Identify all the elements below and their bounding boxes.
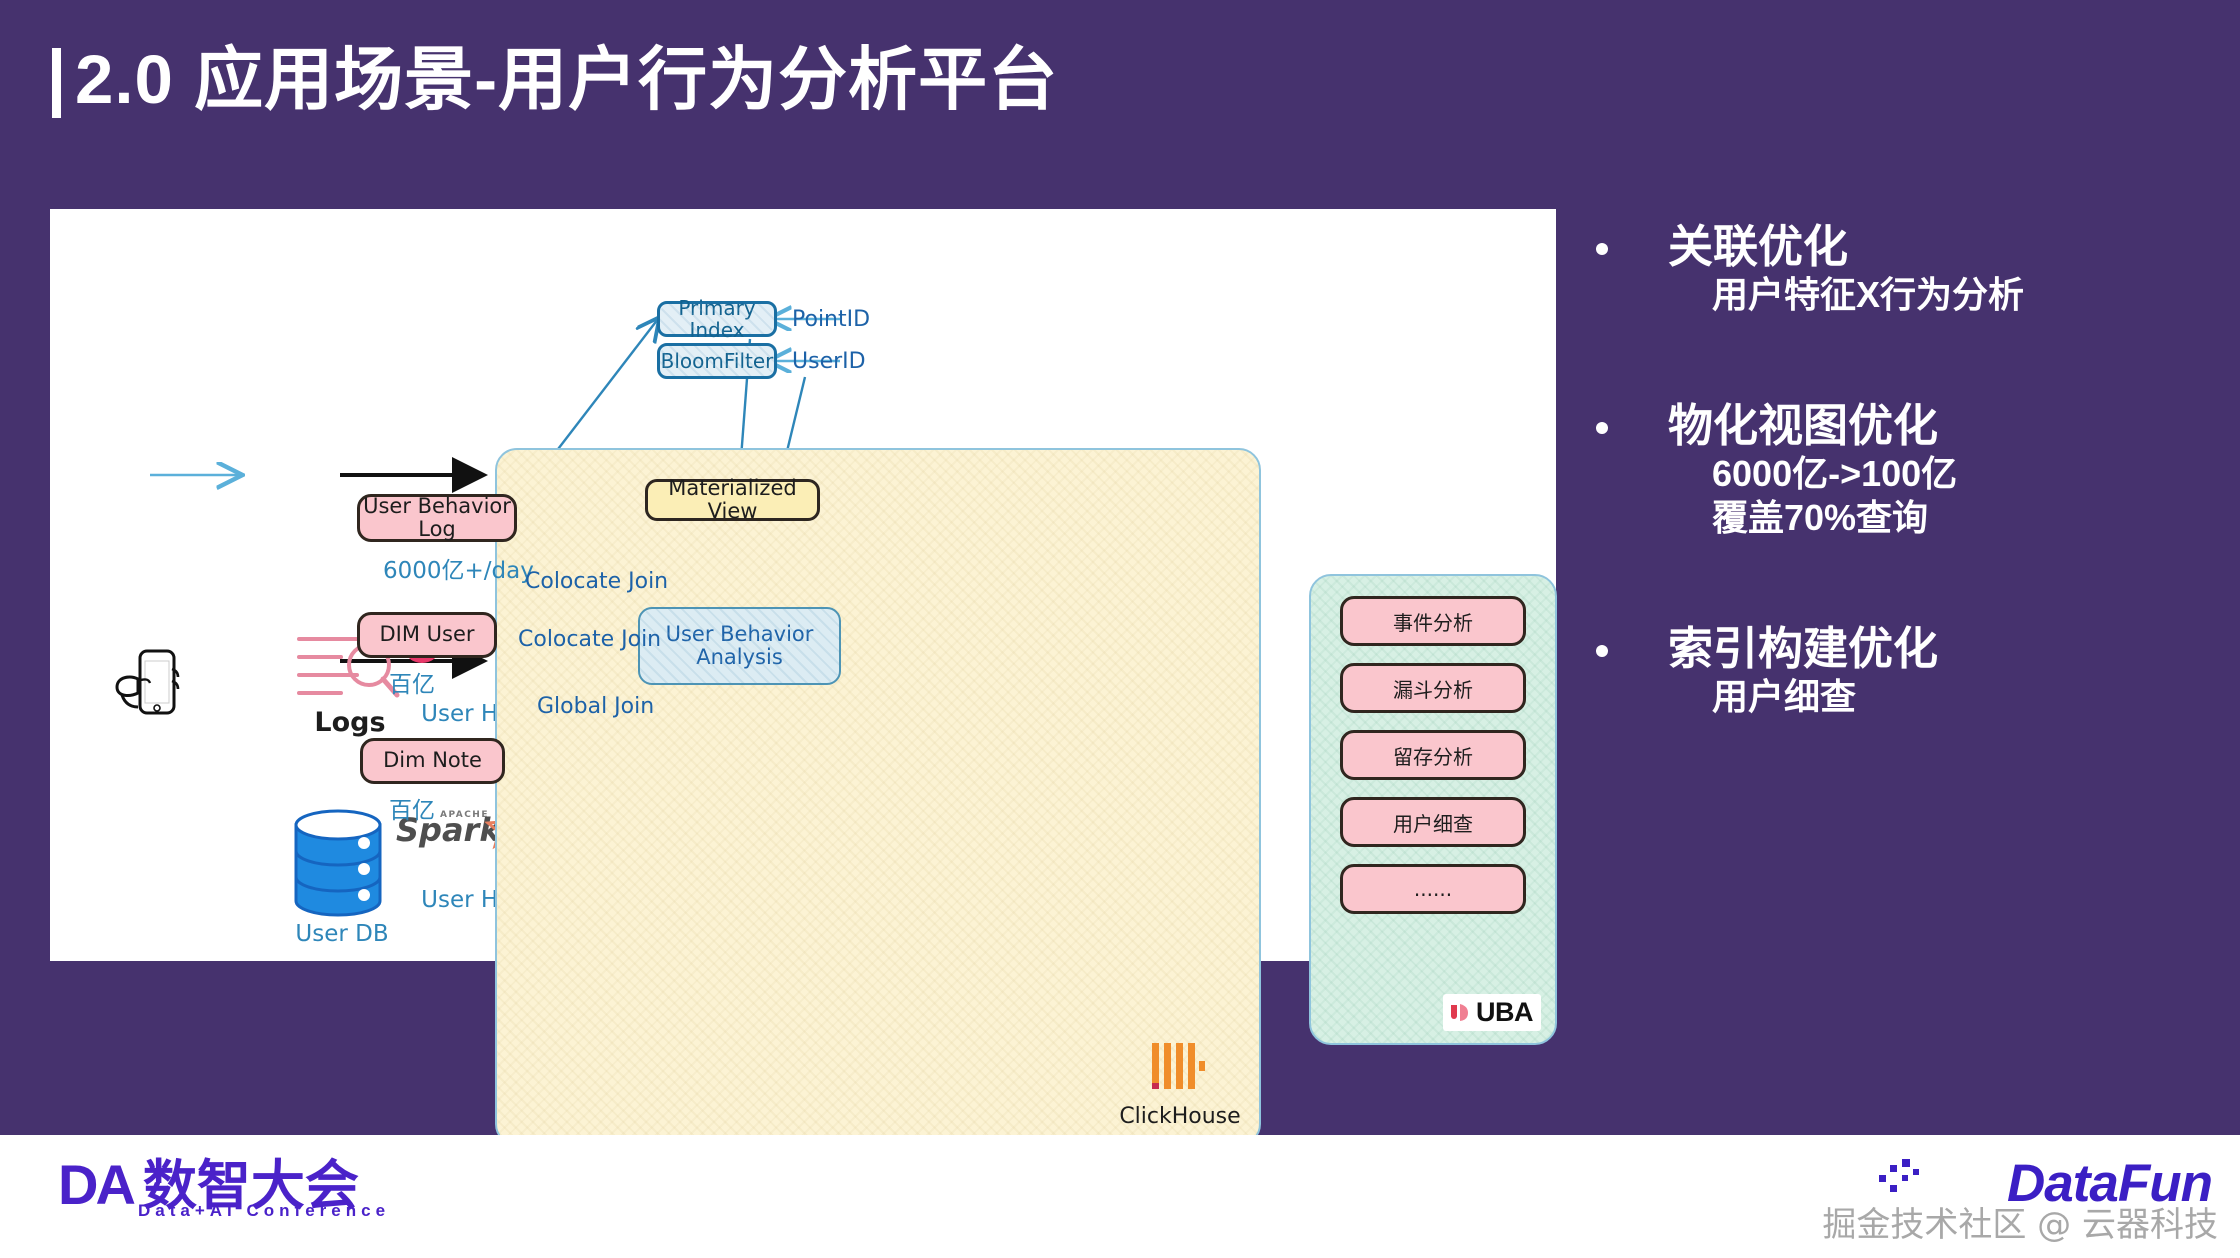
- watermark-text: 掘金技术社区 @ 云器科技: [1822, 1197, 2218, 1246]
- edge-label-colocate-join-top: Colocate Join: [525, 569, 668, 594]
- conference-logo-mark: DA: [58, 1157, 133, 1213]
- bullet-list: 关联优化 用户特征X行为分析 物化视图优化 6000亿->100亿 覆盖70%查…: [1596, 220, 2206, 775]
- node-dim-note[interactable]: Dim Note: [360, 738, 505, 784]
- clickhouse-panel: [495, 448, 1261, 1146]
- bullet-sub-1-1: 覆盖70%查询: [1712, 496, 2206, 540]
- bullet-item-0: 关联优化 用户特征X行为分析: [1596, 220, 2206, 317]
- node-user-behavior-log[interactable]: User Behavior Log: [357, 494, 517, 542]
- edge-label-global-join: Global Join: [537, 694, 654, 719]
- page-title: 2.0 应用场景-用户行为分析平台: [52, 42, 1058, 118]
- node-user-behavior-analysis[interactable]: User Behavior Analysis: [638, 607, 841, 685]
- bullet-dot-icon: [1596, 422, 1608, 434]
- uba-panel: 事件分析 漏斗分析 留存分析 用户细查 ......: [1309, 574, 1557, 1045]
- bullet-sub-2-0: 用户细查: [1712, 675, 2206, 719]
- slide-root: 2.0 应用场景-用户行为分析平台: [0, 0, 2240, 1258]
- database-icon: [290, 809, 386, 917]
- annotation-pointid: PointID: [792, 307, 870, 332]
- uba-item-more[interactable]: ......: [1340, 864, 1526, 914]
- db-label: User DB: [272, 921, 412, 947]
- node-materialized-view[interactable]: Materialized View: [645, 479, 820, 521]
- sublabel-user-behavior-log: 6000亿+/day: [383, 551, 534, 585]
- uba-item-retention-analysis[interactable]: 留存分析: [1340, 730, 1526, 780]
- svg-text:APACHE: APACHE: [440, 810, 489, 820]
- diagram-card: Logs User DB Flink User Hash: [50, 209, 1556, 961]
- bullet-dot-icon: [1596, 645, 1608, 657]
- node-dim-user[interactable]: DIM User: [357, 612, 497, 658]
- sublabel-dim-note: 百亿: [389, 791, 435, 825]
- bullet-head-0: 关联优化: [1668, 220, 2206, 273]
- bullet-sub-0-0: 用户特征X行为分析: [1712, 273, 2206, 317]
- conference-logo-en: Data+AI Conference: [138, 1201, 390, 1221]
- clickhouse-label: ClickHouse: [1110, 1104, 1250, 1129]
- uba-mark-icon: [1448, 1001, 1472, 1025]
- node-bloom-filter[interactable]: BloomFilter: [657, 343, 777, 379]
- bullet-head-1: 物化视图优化: [1668, 399, 2206, 452]
- clickhouse-logo-icon: [1150, 1041, 1206, 1093]
- bullet-head-2: 索引构建优化: [1668, 622, 2206, 675]
- title-accent-bar: [52, 48, 61, 118]
- uba-logo: UBA: [1443, 994, 1541, 1031]
- sublabel-dim-user: 百亿: [389, 665, 435, 699]
- datafun-dots-icon: [1879, 1159, 1925, 1199]
- bullet-sub-1-0: 6000亿->100亿: [1712, 452, 2206, 496]
- bullet-item-1: 物化视图优化 6000亿->100亿 覆盖70%查询: [1596, 399, 2206, 540]
- footer: DA 数智大会 Data+AI Conference DataFun 掘金技术社…: [0, 1135, 2240, 1258]
- phone-hand-icon: [112, 649, 182, 727]
- uba-item-event-analysis[interactable]: 事件分析: [1340, 596, 1526, 646]
- annotation-userid: UserID: [792, 349, 866, 374]
- node-primary-index[interactable]: Primary Index: [657, 301, 777, 337]
- title-text: 2.0 应用场景-用户行为分析平台: [75, 44, 1058, 116]
- bullet-dot-icon: [1596, 243, 1608, 255]
- edge-label-colocate-join-mid: Colocate Join: [518, 627, 661, 652]
- bullet-item-2: 索引构建优化 用户细查: [1596, 622, 2206, 719]
- uba-item-funnel-analysis[interactable]: 漏斗分析: [1340, 663, 1526, 713]
- uba-logo-text: UBA: [1476, 997, 1533, 1028]
- uba-item-user-detail[interactable]: 用户细查: [1340, 797, 1526, 847]
